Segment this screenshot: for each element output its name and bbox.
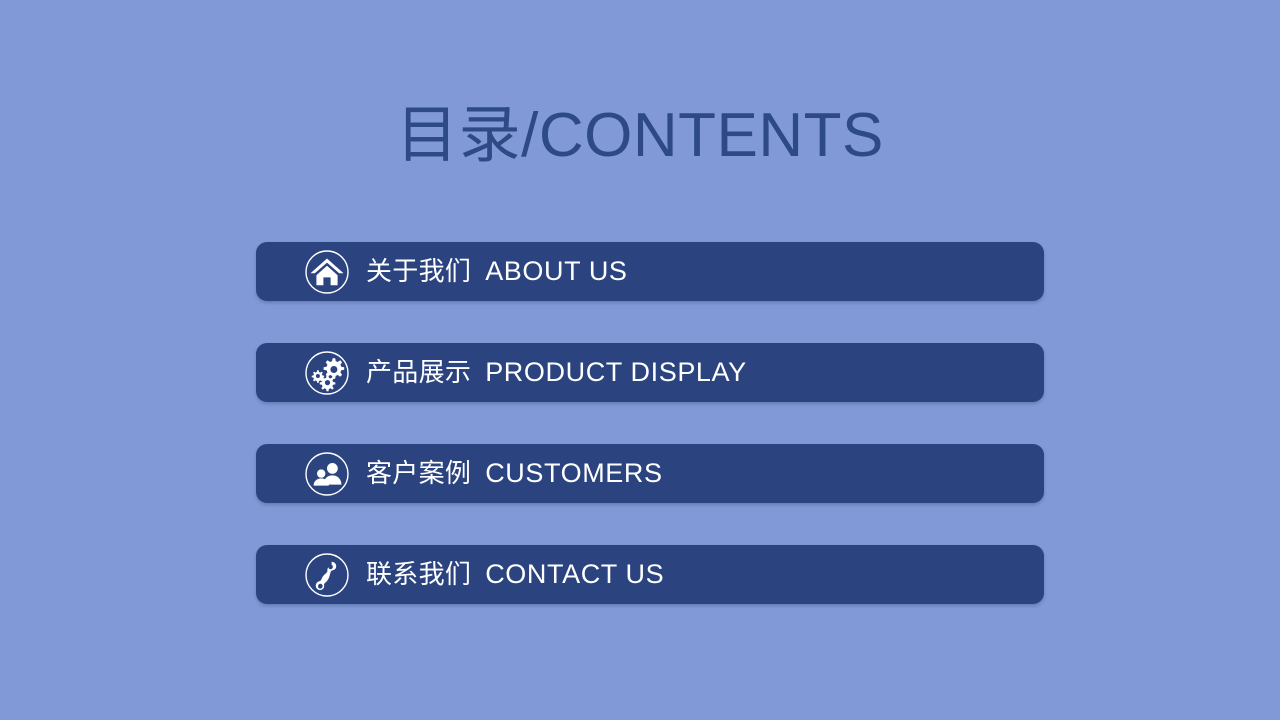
contents-item-about-us[interactable]: 关于我们ABOUT US (256, 242, 1044, 301)
gears-icon (304, 350, 350, 396)
home-icon (304, 249, 350, 295)
contents-item-label: 关于我们ABOUT US (366, 255, 628, 288)
users-icon (304, 451, 350, 497)
contents-item-product-display[interactable]: 产品展示PRODUCT DISPLAY (256, 343, 1044, 402)
contents-item-label: 产品展示PRODUCT DISPLAY (366, 356, 747, 389)
page-title: 目录/CONTENTS (0, 100, 1280, 172)
phone-icon (304, 552, 350, 598)
contents-item-customers[interactable]: 客户案例CUSTOMERS (256, 444, 1044, 503)
contents-item-contact-us[interactable]: 联系我们CONTACT US (256, 545, 1044, 604)
contents-item-label: 联系我们CONTACT US (366, 558, 664, 591)
contents-list: 关于我们ABOUT US (256, 242, 1044, 604)
contents-item-label: 客户案例CUSTOMERS (366, 457, 663, 490)
presentation-slide: 目录/CONTENTS 关于我们ABOUT US (0, 0, 1280, 720)
